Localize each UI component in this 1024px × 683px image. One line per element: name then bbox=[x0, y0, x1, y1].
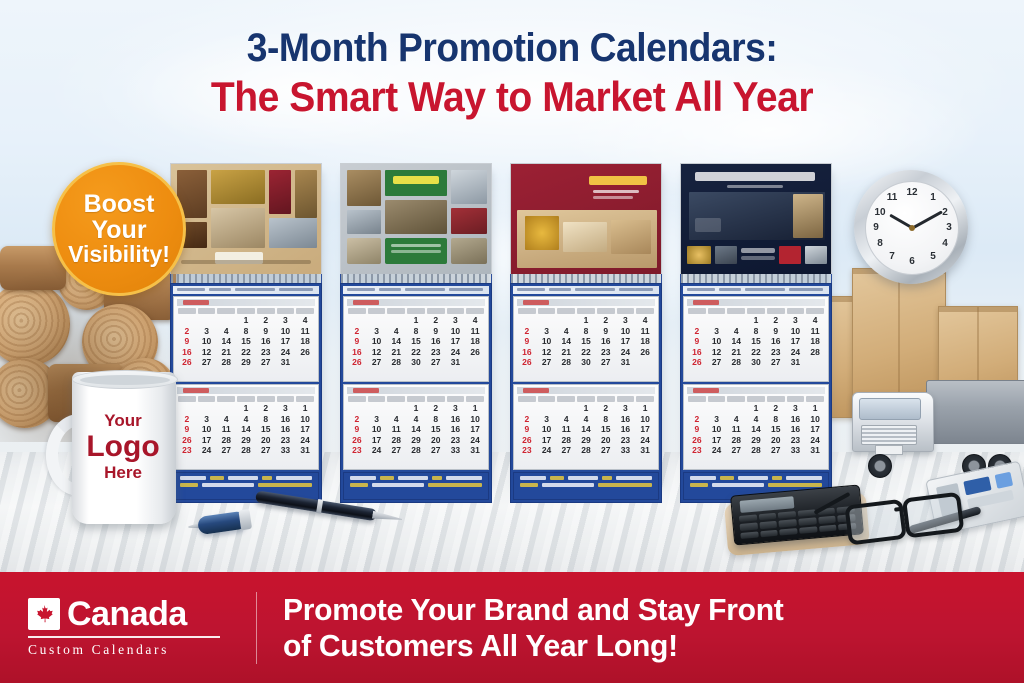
day-cell: 10 bbox=[707, 424, 727, 435]
day-cell: 1 bbox=[635, 403, 655, 414]
day-cell bbox=[616, 368, 636, 379]
day-cell bbox=[726, 368, 746, 379]
day-cell: 28 bbox=[556, 435, 576, 446]
day-cell: 27 bbox=[766, 445, 786, 456]
day-cell: 18 bbox=[635, 336, 655, 347]
day-cell: 27 bbox=[726, 445, 746, 456]
weekday-header-row bbox=[687, 396, 825, 402]
day-cell: 9 bbox=[687, 424, 707, 435]
day-cell: 17 bbox=[786, 336, 806, 347]
month-title-bar bbox=[517, 387, 655, 394]
branded-mug: Your Logo Here bbox=[60, 372, 184, 530]
header-photo-tile bbox=[741, 256, 775, 260]
header-photo-tile bbox=[269, 218, 317, 248]
calendar-header-photo bbox=[170, 163, 322, 274]
day-cell: 4 bbox=[635, 315, 655, 326]
day-cell bbox=[347, 403, 367, 414]
truck-cab bbox=[852, 392, 934, 452]
day-cell: 10 bbox=[197, 424, 217, 435]
day-cell bbox=[446, 456, 466, 467]
day-cell: 17 bbox=[707, 435, 727, 446]
day-cell: 17 bbox=[537, 435, 557, 446]
day-cell bbox=[616, 456, 636, 467]
mug-text-line-3: Here bbox=[82, 464, 164, 481]
day-cell: 3 bbox=[197, 414, 217, 425]
day-cell: 22 bbox=[236, 347, 256, 358]
day-cell: 4 bbox=[576, 414, 596, 425]
day-cell: 26 bbox=[517, 357, 537, 368]
day-cell bbox=[367, 403, 387, 414]
day-cell: 4 bbox=[386, 326, 406, 337]
day-cell: 15 bbox=[596, 424, 616, 435]
day-cell: 26 bbox=[295, 347, 315, 358]
day-cell: 26 bbox=[687, 357, 707, 368]
day-number-grid: 1234234891011910141516171816122122232426… bbox=[517, 315, 655, 378]
day-cell: 2 bbox=[596, 403, 616, 414]
day-cell bbox=[216, 456, 236, 467]
day-cell: 10 bbox=[446, 326, 466, 337]
day-cell: 17 bbox=[446, 336, 466, 347]
day-cell: 14 bbox=[726, 336, 746, 347]
day-cell: 21 bbox=[726, 347, 746, 358]
day-cell bbox=[537, 403, 557, 414]
calendar-body: 1234234891011910141516171816122122232426… bbox=[510, 163, 662, 503]
day-cell bbox=[367, 315, 387, 326]
day-cell bbox=[177, 315, 197, 326]
day-cell: 14 bbox=[216, 336, 236, 347]
day-cell bbox=[216, 368, 236, 379]
day-cell: 1 bbox=[236, 403, 256, 414]
header-photo-tile bbox=[347, 238, 381, 264]
day-cell bbox=[707, 403, 727, 414]
day-cell bbox=[726, 315, 746, 326]
day-cell: 16 bbox=[276, 424, 296, 435]
day-cell bbox=[276, 368, 296, 379]
day-cell: 23 bbox=[616, 435, 636, 446]
day-cell: 2 bbox=[517, 414, 537, 425]
day-cell: 23 bbox=[347, 445, 367, 456]
day-cell: 11 bbox=[556, 424, 576, 435]
day-cell bbox=[576, 368, 596, 379]
header-photo-tile bbox=[593, 190, 639, 193]
day-cell bbox=[537, 456, 557, 467]
day-cell: 21 bbox=[386, 347, 406, 358]
day-cell bbox=[556, 456, 576, 467]
day-cell: 33 bbox=[276, 445, 296, 456]
calendar-header-photo bbox=[510, 163, 662, 274]
day-cell bbox=[517, 315, 537, 326]
day-cell: 8 bbox=[426, 414, 446, 425]
day-cell: 9 bbox=[517, 336, 537, 347]
day-cell: 23 bbox=[687, 445, 707, 456]
day-cell: 2 bbox=[256, 403, 276, 414]
day-cell: 28 bbox=[386, 435, 406, 446]
header-photo-tile bbox=[611, 220, 651, 254]
day-cell: 17 bbox=[616, 336, 636, 347]
day-number-grid: 1231234481610910111415161726172829202324… bbox=[177, 403, 315, 466]
day-cell: 24 bbox=[367, 445, 387, 456]
wall-clock: 12 1 2 3 4 5 6 7 8 9 10 11 bbox=[854, 170, 968, 284]
day-cell bbox=[386, 403, 406, 414]
day-cell: 21 bbox=[556, 347, 576, 358]
day-cell: 12 bbox=[707, 347, 727, 358]
day-cell bbox=[596, 368, 616, 379]
day-cell: 23 bbox=[276, 435, 296, 446]
day-cell: 3 bbox=[276, 315, 296, 326]
brand-subtitle: Custom Calendars bbox=[28, 642, 252, 658]
delivery-truck bbox=[846, 370, 1024, 474]
day-cell: 24 bbox=[537, 445, 557, 456]
clock-number: 4 bbox=[938, 239, 952, 249]
mug-rim bbox=[72, 370, 178, 389]
month-title-bar bbox=[177, 299, 315, 306]
day-cell bbox=[465, 357, 485, 368]
day-cell: 2 bbox=[687, 414, 707, 425]
day-cell: 9 bbox=[687, 336, 707, 347]
day-cell: 23 bbox=[446, 435, 466, 446]
day-cell: 14 bbox=[406, 424, 426, 435]
day-cell: 9 bbox=[347, 336, 367, 347]
day-cell: 10 bbox=[367, 424, 387, 435]
header-photo-tile bbox=[451, 170, 487, 204]
clock-number: 11 bbox=[885, 193, 899, 203]
day-cell: 2 bbox=[517, 326, 537, 337]
clock-number: 7 bbox=[885, 252, 899, 262]
day-cell: 24 bbox=[616, 347, 636, 358]
day-cell: 26 bbox=[347, 357, 367, 368]
month-grid[interactable]: 1231234481610910111415161726172829202324… bbox=[513, 384, 659, 470]
day-cell: 27 bbox=[426, 357, 446, 368]
day-cell bbox=[805, 368, 825, 379]
day-cell: 2 bbox=[256, 315, 276, 326]
day-cell: 2 bbox=[596, 315, 616, 326]
day-cell bbox=[386, 315, 406, 326]
day-cell bbox=[766, 368, 786, 379]
day-cell: 27 bbox=[386, 445, 406, 456]
day-cell bbox=[216, 403, 236, 414]
day-cell: 28 bbox=[406, 445, 426, 456]
day-cell: 2 bbox=[347, 326, 367, 337]
badge-line-1: Boost bbox=[84, 191, 155, 217]
day-cell: 27 bbox=[197, 357, 217, 368]
header-photo-tile bbox=[695, 218, 721, 232]
calendar-3[interactable]: 1234234891011910141516171816122122232426… bbox=[510, 163, 662, 503]
day-cell: 1 bbox=[465, 403, 485, 414]
day-cell: 12 bbox=[537, 347, 557, 358]
day-cell: 8 bbox=[256, 414, 276, 425]
footer-bar: Canada Custom Calendars Promote Your Bra… bbox=[0, 572, 1024, 683]
month-grid[interactable]: 1231234481610910111415161726172829202324… bbox=[683, 384, 829, 470]
month-grid[interactable]: 1231234481610910111415161726172829202324… bbox=[173, 384, 319, 470]
day-cell bbox=[786, 456, 806, 467]
day-cell: 26 bbox=[465, 347, 485, 358]
day-cell: 15 bbox=[256, 424, 276, 435]
day-cell bbox=[635, 368, 655, 379]
calendar-wire-binding bbox=[510, 274, 662, 283]
day-cell: 16 bbox=[347, 347, 367, 358]
day-cell: 18 bbox=[465, 336, 485, 347]
calendar-top-band: 1234234891011910141516171816122122232426… bbox=[170, 283, 322, 503]
brand-lockup[interactable]: Canada Custom Calendars bbox=[0, 597, 252, 658]
day-cell: 10 bbox=[465, 414, 485, 425]
header-photo-tile bbox=[805, 246, 827, 264]
day-cell: 3 bbox=[446, 403, 466, 414]
calendar-bottom-band bbox=[343, 472, 489, 500]
headline-line-1: 3-Month Promotion Calendars: bbox=[36, 26, 988, 71]
day-cell: 4 bbox=[216, 414, 236, 425]
calendar-1[interactable]: 1234234891011910141516171816122122232426… bbox=[170, 163, 322, 503]
day-cell bbox=[347, 368, 367, 379]
day-cell: 16 bbox=[177, 347, 197, 358]
day-cell: 9 bbox=[596, 326, 616, 337]
clock-number: 1 bbox=[926, 193, 940, 203]
header-photo-tile bbox=[269, 170, 291, 214]
day-cell: 18 bbox=[805, 336, 825, 347]
day-cell: 9 bbox=[766, 326, 786, 337]
day-cell: 10 bbox=[537, 336, 557, 347]
day-cell: 29 bbox=[236, 357, 256, 368]
truck-wheel bbox=[868, 454, 892, 478]
day-cell: 1 bbox=[236, 315, 256, 326]
day-cell: 27 bbox=[596, 445, 616, 456]
day-cell: 14 bbox=[746, 424, 766, 435]
header-photo-tile bbox=[687, 246, 711, 264]
day-cell: 28 bbox=[746, 445, 766, 456]
day-cell bbox=[687, 456, 707, 467]
day-cell bbox=[576, 456, 596, 467]
day-cell: 27 bbox=[216, 445, 236, 456]
clock-face: 12 1 2 3 4 5 6 7 8 9 10 11 bbox=[865, 181, 959, 275]
calendar-body: 1234234891011910141516171816122122232426… bbox=[170, 163, 322, 503]
eyeglasses-lens bbox=[844, 499, 906, 546]
day-cell: 27 bbox=[537, 357, 557, 368]
clock-number: 9 bbox=[869, 223, 883, 233]
clock-number: 12 bbox=[905, 188, 919, 198]
calendar-body: 1234234891011910141516171816122122232428… bbox=[680, 163, 832, 503]
day-cell: 3 bbox=[367, 326, 387, 337]
day-cell: 2 bbox=[177, 326, 197, 337]
day-cell: 10 bbox=[276, 326, 296, 337]
day-cell bbox=[197, 403, 217, 414]
day-cell: 31 bbox=[446, 357, 466, 368]
weekday-header-row bbox=[517, 308, 655, 314]
month-grid[interactable]: 1231234481610910111415161726172829202324… bbox=[343, 384, 489, 470]
day-cell: 8 bbox=[766, 414, 786, 425]
day-cell: 28 bbox=[216, 357, 236, 368]
day-cell: 17 bbox=[465, 424, 485, 435]
day-cell: 16 bbox=[766, 336, 786, 347]
calendar-wire-binding bbox=[680, 274, 832, 283]
day-cell: 3 bbox=[616, 315, 636, 326]
day-cell bbox=[256, 456, 276, 467]
day-cell: 15 bbox=[406, 336, 426, 347]
day-cell bbox=[707, 456, 727, 467]
day-cell bbox=[556, 368, 576, 379]
day-cell: 3 bbox=[786, 403, 806, 414]
day-cell: 30 bbox=[746, 357, 766, 368]
day-cell: 3 bbox=[537, 414, 557, 425]
day-cell: 24 bbox=[805, 435, 825, 446]
day-cell: 16 bbox=[616, 414, 636, 425]
header-photo-tile bbox=[589, 176, 647, 185]
day-cell: 20 bbox=[256, 435, 276, 446]
calendar-2[interactable]: 1234234891011910141516171816122122232426… bbox=[340, 163, 492, 503]
month-grid[interactable]: 1234234891011910141516171816122122232426… bbox=[173, 296, 319, 382]
day-cell: 11 bbox=[216, 424, 236, 435]
day-cell: 24 bbox=[786, 347, 806, 358]
day-cell: 31 bbox=[805, 445, 825, 456]
day-cell: 9 bbox=[517, 424, 537, 435]
day-cell bbox=[556, 403, 576, 414]
day-cell: 29 bbox=[746, 435, 766, 446]
day-cell: 16 bbox=[786, 414, 806, 425]
day-cell bbox=[805, 456, 825, 467]
day-cell: 31 bbox=[295, 445, 315, 456]
header-photo-tile bbox=[391, 250, 441, 253]
day-cell bbox=[197, 315, 217, 326]
day-cell bbox=[517, 403, 537, 414]
day-cell bbox=[256, 368, 276, 379]
tagline-line-1: Promote Your Brand and Stay Front bbox=[283, 592, 784, 628]
clock-minute-hand bbox=[911, 210, 942, 229]
day-cell: 3 bbox=[537, 326, 557, 337]
day-cell bbox=[426, 368, 446, 379]
day-cell: 8 bbox=[576, 326, 596, 337]
day-cell: 3 bbox=[707, 326, 727, 337]
day-cell: 10 bbox=[616, 326, 636, 337]
month-title-bar bbox=[687, 387, 825, 394]
day-cell: 17 bbox=[367, 435, 387, 446]
day-cell bbox=[347, 315, 367, 326]
day-cell: 27 bbox=[367, 357, 387, 368]
month-grid[interactable]: 1234234891011910141516171816122122232426… bbox=[343, 296, 489, 382]
day-cell: 18 bbox=[295, 336, 315, 347]
day-cell: 12 bbox=[367, 347, 387, 358]
day-cell: 15 bbox=[236, 336, 256, 347]
headline: 3-Month Promotion Calendars: The Smart W… bbox=[0, 26, 1024, 122]
day-cell bbox=[635, 357, 655, 368]
month-grid[interactable]: 1234234891011910141516171816122122232426… bbox=[513, 296, 659, 382]
day-cell bbox=[386, 368, 406, 379]
day-cell: 9 bbox=[177, 336, 197, 347]
day-cell bbox=[367, 456, 387, 467]
calendar-wire-binding bbox=[170, 274, 322, 283]
header-photo-tile bbox=[451, 208, 487, 234]
day-cell: 10 bbox=[197, 336, 217, 347]
day-cell: 21 bbox=[216, 347, 236, 358]
day-cell: 8 bbox=[596, 414, 616, 425]
day-cell: 1 bbox=[406, 403, 426, 414]
day-cell: 3 bbox=[446, 315, 466, 326]
day-cell bbox=[805, 357, 825, 368]
day-number-grid: 1231234481610910111415161726172829202324… bbox=[687, 403, 825, 466]
day-cell: 4 bbox=[805, 315, 825, 326]
header-photo-tile bbox=[347, 170, 381, 206]
header-photo-tile bbox=[347, 210, 381, 234]
day-cell bbox=[517, 368, 537, 379]
weekday-header-row bbox=[177, 396, 315, 402]
day-cell: 11 bbox=[726, 424, 746, 435]
day-cell: 9 bbox=[256, 326, 276, 337]
day-cell: 23 bbox=[596, 347, 616, 358]
day-cell bbox=[596, 456, 616, 467]
day-cell: 8 bbox=[746, 326, 766, 337]
calendar-top-band: 1234234891011910141516171816122122232428… bbox=[680, 283, 832, 503]
day-cell: 10 bbox=[295, 414, 315, 425]
day-cell: 23 bbox=[786, 435, 806, 446]
calendar-top-band: 1234234891011910141516171816122122232426… bbox=[340, 283, 492, 503]
header-photo-tile bbox=[793, 194, 823, 238]
day-cell: 3 bbox=[367, 414, 387, 425]
day-cell: 15 bbox=[746, 336, 766, 347]
day-cell bbox=[236, 368, 256, 379]
header-photo-tile bbox=[741, 248, 775, 253]
boost-visibility-badge[interactable]: Boost Your Visibility! bbox=[52, 162, 186, 296]
day-cell: 29 bbox=[236, 435, 256, 446]
header-photo-tile bbox=[391, 244, 441, 247]
day-cell bbox=[386, 456, 406, 467]
month-title-bar bbox=[347, 299, 485, 306]
day-cell bbox=[537, 315, 557, 326]
day-cell bbox=[295, 357, 315, 368]
day-cell: 27 bbox=[596, 357, 616, 368]
day-cell: 24 bbox=[635, 435, 655, 446]
calendar-wire-binding bbox=[340, 274, 492, 283]
day-cell: 30 bbox=[576, 357, 596, 368]
header-photo-tile bbox=[779, 246, 801, 264]
day-cell: 26 bbox=[687, 435, 707, 446]
day-cell bbox=[635, 456, 655, 467]
calendar-4[interactable]: 1234234891011910141516171816122122232428… bbox=[680, 163, 832, 503]
day-cell: 27 bbox=[556, 445, 576, 456]
header-photo-tile bbox=[385, 200, 447, 234]
day-cell: 24 bbox=[295, 435, 315, 446]
day-cell: 31 bbox=[635, 445, 655, 456]
day-cell: 11 bbox=[465, 326, 485, 337]
month-grid[interactable]: 1234234891011910141516171816122122232428… bbox=[683, 296, 829, 382]
day-cell: 1 bbox=[576, 403, 596, 414]
day-cell: 27 bbox=[766, 357, 786, 368]
day-cell: 8 bbox=[406, 326, 426, 337]
header-photo-tile bbox=[393, 176, 439, 184]
day-cell: 2 bbox=[426, 315, 446, 326]
day-cell: 16 bbox=[786, 424, 806, 435]
day-cell bbox=[216, 315, 236, 326]
day-cell bbox=[687, 368, 707, 379]
calendar-bottom-band bbox=[513, 472, 659, 500]
day-cell: 16 bbox=[616, 424, 636, 435]
day-cell: 3 bbox=[707, 414, 727, 425]
day-cell bbox=[707, 315, 727, 326]
day-cell bbox=[537, 368, 557, 379]
weekday-header-row bbox=[347, 308, 485, 314]
day-cell: 10 bbox=[537, 424, 557, 435]
mug-logo-text: Your Logo Here bbox=[82, 412, 164, 481]
header-photo-tile bbox=[211, 208, 265, 248]
clock-number: 10 bbox=[873, 208, 887, 218]
day-cell bbox=[347, 456, 367, 467]
day-cell: 14 bbox=[236, 424, 256, 435]
day-cell: 1 bbox=[805, 403, 825, 414]
clock-number: 3 bbox=[942, 223, 956, 233]
clock-number: 8 bbox=[873, 239, 887, 249]
day-cell: 33 bbox=[786, 445, 806, 456]
day-cell: 28 bbox=[556, 357, 576, 368]
day-cell: 28 bbox=[726, 435, 746, 446]
canada-maple-leaf-icon bbox=[28, 598, 60, 630]
day-cell: 4 bbox=[726, 326, 746, 337]
day-cell: 16 bbox=[446, 414, 466, 425]
